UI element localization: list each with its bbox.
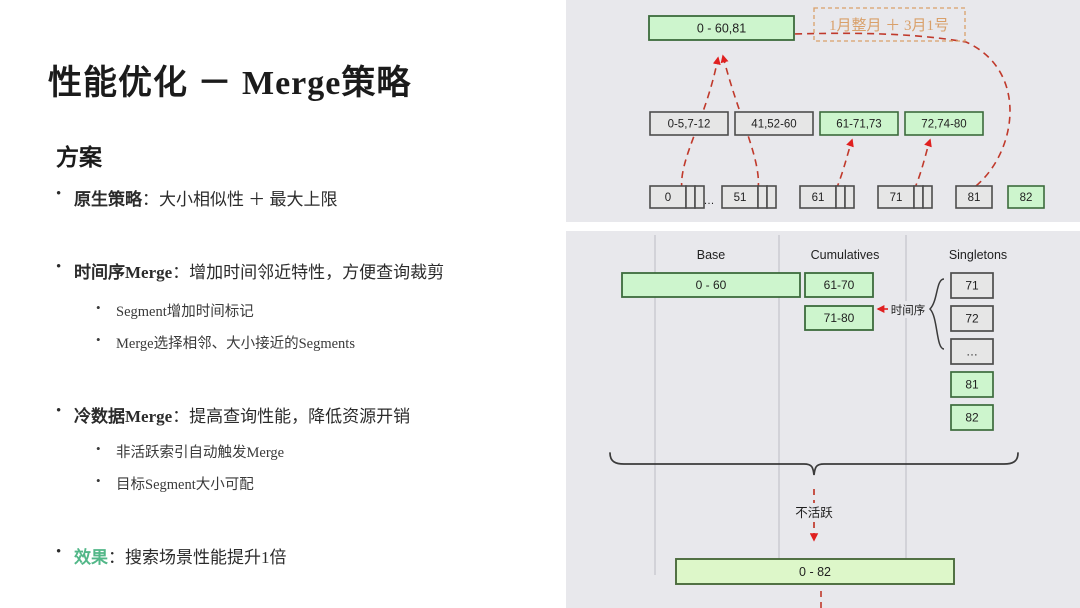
leaf-segment-3-tail-0 — [914, 186, 923, 208]
segment-tier-diagram-panel: Base Cumulatives Singletons 0 - 60 61-70… — [566, 231, 1080, 608]
bullet-emphasis: 冷数据Merge — [74, 407, 172, 426]
leaf-segment-2-tail-1 — [845, 186, 854, 208]
slide-text-pane: 性能优化 － Merge策略 方案 •原生策略：大小相似性 ＋ 最大上限•时间序… — [0, 0, 566, 608]
leaf-segment-3-tail-1-rect — [923, 186, 932, 208]
date-annotation-label: 1月整月 ＋ 3月1号 — [829, 17, 949, 34]
leaf-segment-1-tail-1-rect — [767, 186, 776, 208]
leaf-segment-5[interactable]: 82 — [1008, 186, 1044, 208]
bullet-text: 非活跃索引自动触发Merge — [116, 441, 284, 462]
bullet-emphasis: 原生策略 — [74, 190, 142, 209]
leaf-segment-3[interactable]: 71 — [878, 186, 914, 208]
leaf-segment-1[interactable]: 51 — [722, 186, 758, 208]
bullet-marker: • — [96, 300, 116, 316]
segment-tier-overlay-svg: 不活跃 0 - 82 — [566, 231, 1080, 608]
mid-segment-0[interactable]: 0-5,7-12 — [650, 112, 728, 135]
leaf-segment-1-tail-0 — [758, 186, 767, 208]
merge-scope-brace — [610, 453, 1018, 475]
bullet-marker: • — [96, 473, 116, 489]
bullet-item-1: •时间序Merge：增加时间邻近特性，方便查询裁剪 — [56, 258, 444, 283]
bullet-item-2: •Segment增加时间标记 — [96, 300, 254, 321]
mid-segment-2[interactable]: 61-71,73 — [820, 112, 898, 135]
leaf-segment-0-label: 0 — [665, 192, 671, 204]
bullet-text: 目标Segment大小可配 — [116, 473, 254, 494]
merge-tree-svg: 0 - 60,81 1月整月 ＋ 3月1号 0-5,7-1241,52-6061… — [566, 0, 1080, 222]
merge-tree-diagram-panel: 0 - 60,81 1月整月 ＋ 3月1号 0-5,7-1241,52-6061… — [566, 0, 1080, 222]
merged-result-label: 0 - 82 — [799, 565, 831, 579]
page-title: 性能优化 － Merge策略 — [48, 55, 411, 104]
bullet-marker: • — [96, 332, 116, 348]
bullet-marker: • — [56, 258, 74, 276]
bullet-marker: • — [56, 402, 74, 420]
bullet-item-5: •非活跃索引自动触发Merge — [96, 441, 284, 462]
bullet-text: Merge选择相邻、大小接近的Segments — [116, 332, 355, 353]
bullet-marker: • — [56, 543, 74, 561]
arrow-leaf71-to-mid4 — [914, 140, 930, 190]
mid-segment-1-label: 41,52-60 — [751, 119, 796, 131]
leaf-segment-1-tail-1 — [767, 186, 776, 208]
leaf-segment-3-label: 71 — [890, 192, 903, 204]
bullet-text: 冷数据Merge：提高查询性能，降低资源开销 — [74, 402, 410, 427]
bullet-item-0: •原生策略：大小相似性 ＋ 最大上限 — [56, 185, 338, 210]
mid-segment-0-label: 0-5,7-12 — [668, 119, 711, 131]
inactive-label: 不活跃 — [795, 506, 833, 520]
leaf-segment-0-tail-0 — [686, 186, 695, 208]
bullet-rest: ：增加时间邻近特性，方便查询裁剪 — [172, 263, 444, 282]
mid-segment-2-label: 61-71,73 — [836, 119, 881, 131]
leaf-segment-0-tail-0-rect — [686, 186, 695, 208]
leaf-segment-1-tail-0-rect — [758, 186, 767, 208]
bullet-text: 效果：搜索场景性能提升1倍 — [74, 543, 287, 568]
leaf-segment-5-label: 82 — [1020, 192, 1033, 204]
arrow-leaf61-to-mid3 — [836, 140, 852, 190]
mid-segment-1[interactable]: 41,52-60 — [735, 112, 813, 135]
mid-segment-row: 0-5,7-1241,52-6061-71,7372,74-80 — [650, 112, 983, 135]
section-heading: 方案 — [56, 138, 102, 172]
bullet-marker: • — [56, 185, 74, 203]
bullet-emphasis: 时间序Merge — [74, 263, 172, 282]
leaf-segment-2-tail-0 — [836, 186, 845, 208]
bullet-item-4: •冷数据Merge：提高查询性能，降低资源开销 — [56, 402, 410, 427]
merged-result-box[interactable]: 0 - 82 — [676, 559, 954, 584]
leaf-segment-4-label: 81 — [968, 192, 981, 204]
leaf-segment-3-tail-1 — [923, 186, 932, 208]
bullet-rest: ：大小相似性 ＋ 最大上限 — [142, 190, 338, 209]
mid-segment-3[interactable]: 72,74-80 — [905, 112, 983, 135]
mid-segment-3-label: 72,74-80 — [921, 119, 966, 131]
leaf-segment-2-tail-0-rect — [836, 186, 845, 208]
bullet-item-6: •目标Segment大小可配 — [96, 473, 254, 494]
leaf-ellipsis: … — [704, 195, 715, 207]
bullet-text: 原生策略：大小相似性 ＋ 最大上限 — [74, 185, 338, 210]
bullet-text: 时间序Merge：增加时间邻近特性，方便查询裁剪 — [74, 258, 444, 283]
root-segment-label: 0 - 60,81 — [697, 22, 746, 36]
bullet-item-3: •Merge选择相邻、大小接近的Segments — [96, 332, 355, 353]
arrow-leaf81-to-root — [734, 33, 1010, 186]
leaf-segment-1-label: 51 — [734, 192, 747, 204]
leaf-segment-4[interactable]: 81 — [956, 186, 992, 208]
bullet-item-7: •效果：搜索场景性能提升1倍 — [56, 543, 287, 568]
date-annotation: 1月整月 ＋ 3月1号 — [814, 8, 965, 41]
leaf-segment-2-tail-1-rect — [845, 186, 854, 208]
leaf-segment-2-label: 61 — [812, 192, 825, 204]
leaf-segment-0[interactable]: 0 — [650, 186, 686, 208]
leaf-segment-2[interactable]: 61 — [800, 186, 836, 208]
bullet-text: Segment增加时间标记 — [116, 300, 254, 321]
bullet-emphasis-green: 效果 — [74, 548, 108, 567]
root-segment-box[interactable]: 0 - 60,81 — [649, 16, 794, 40]
leaf-segment-3-tail-0-rect — [914, 186, 923, 208]
bullet-marker: • — [96, 441, 116, 457]
bullet-rest: ：搜索场景性能提升1倍 — [108, 548, 287, 567]
bullet-rest: ：提高查询性能，降低资源开销 — [172, 407, 410, 426]
